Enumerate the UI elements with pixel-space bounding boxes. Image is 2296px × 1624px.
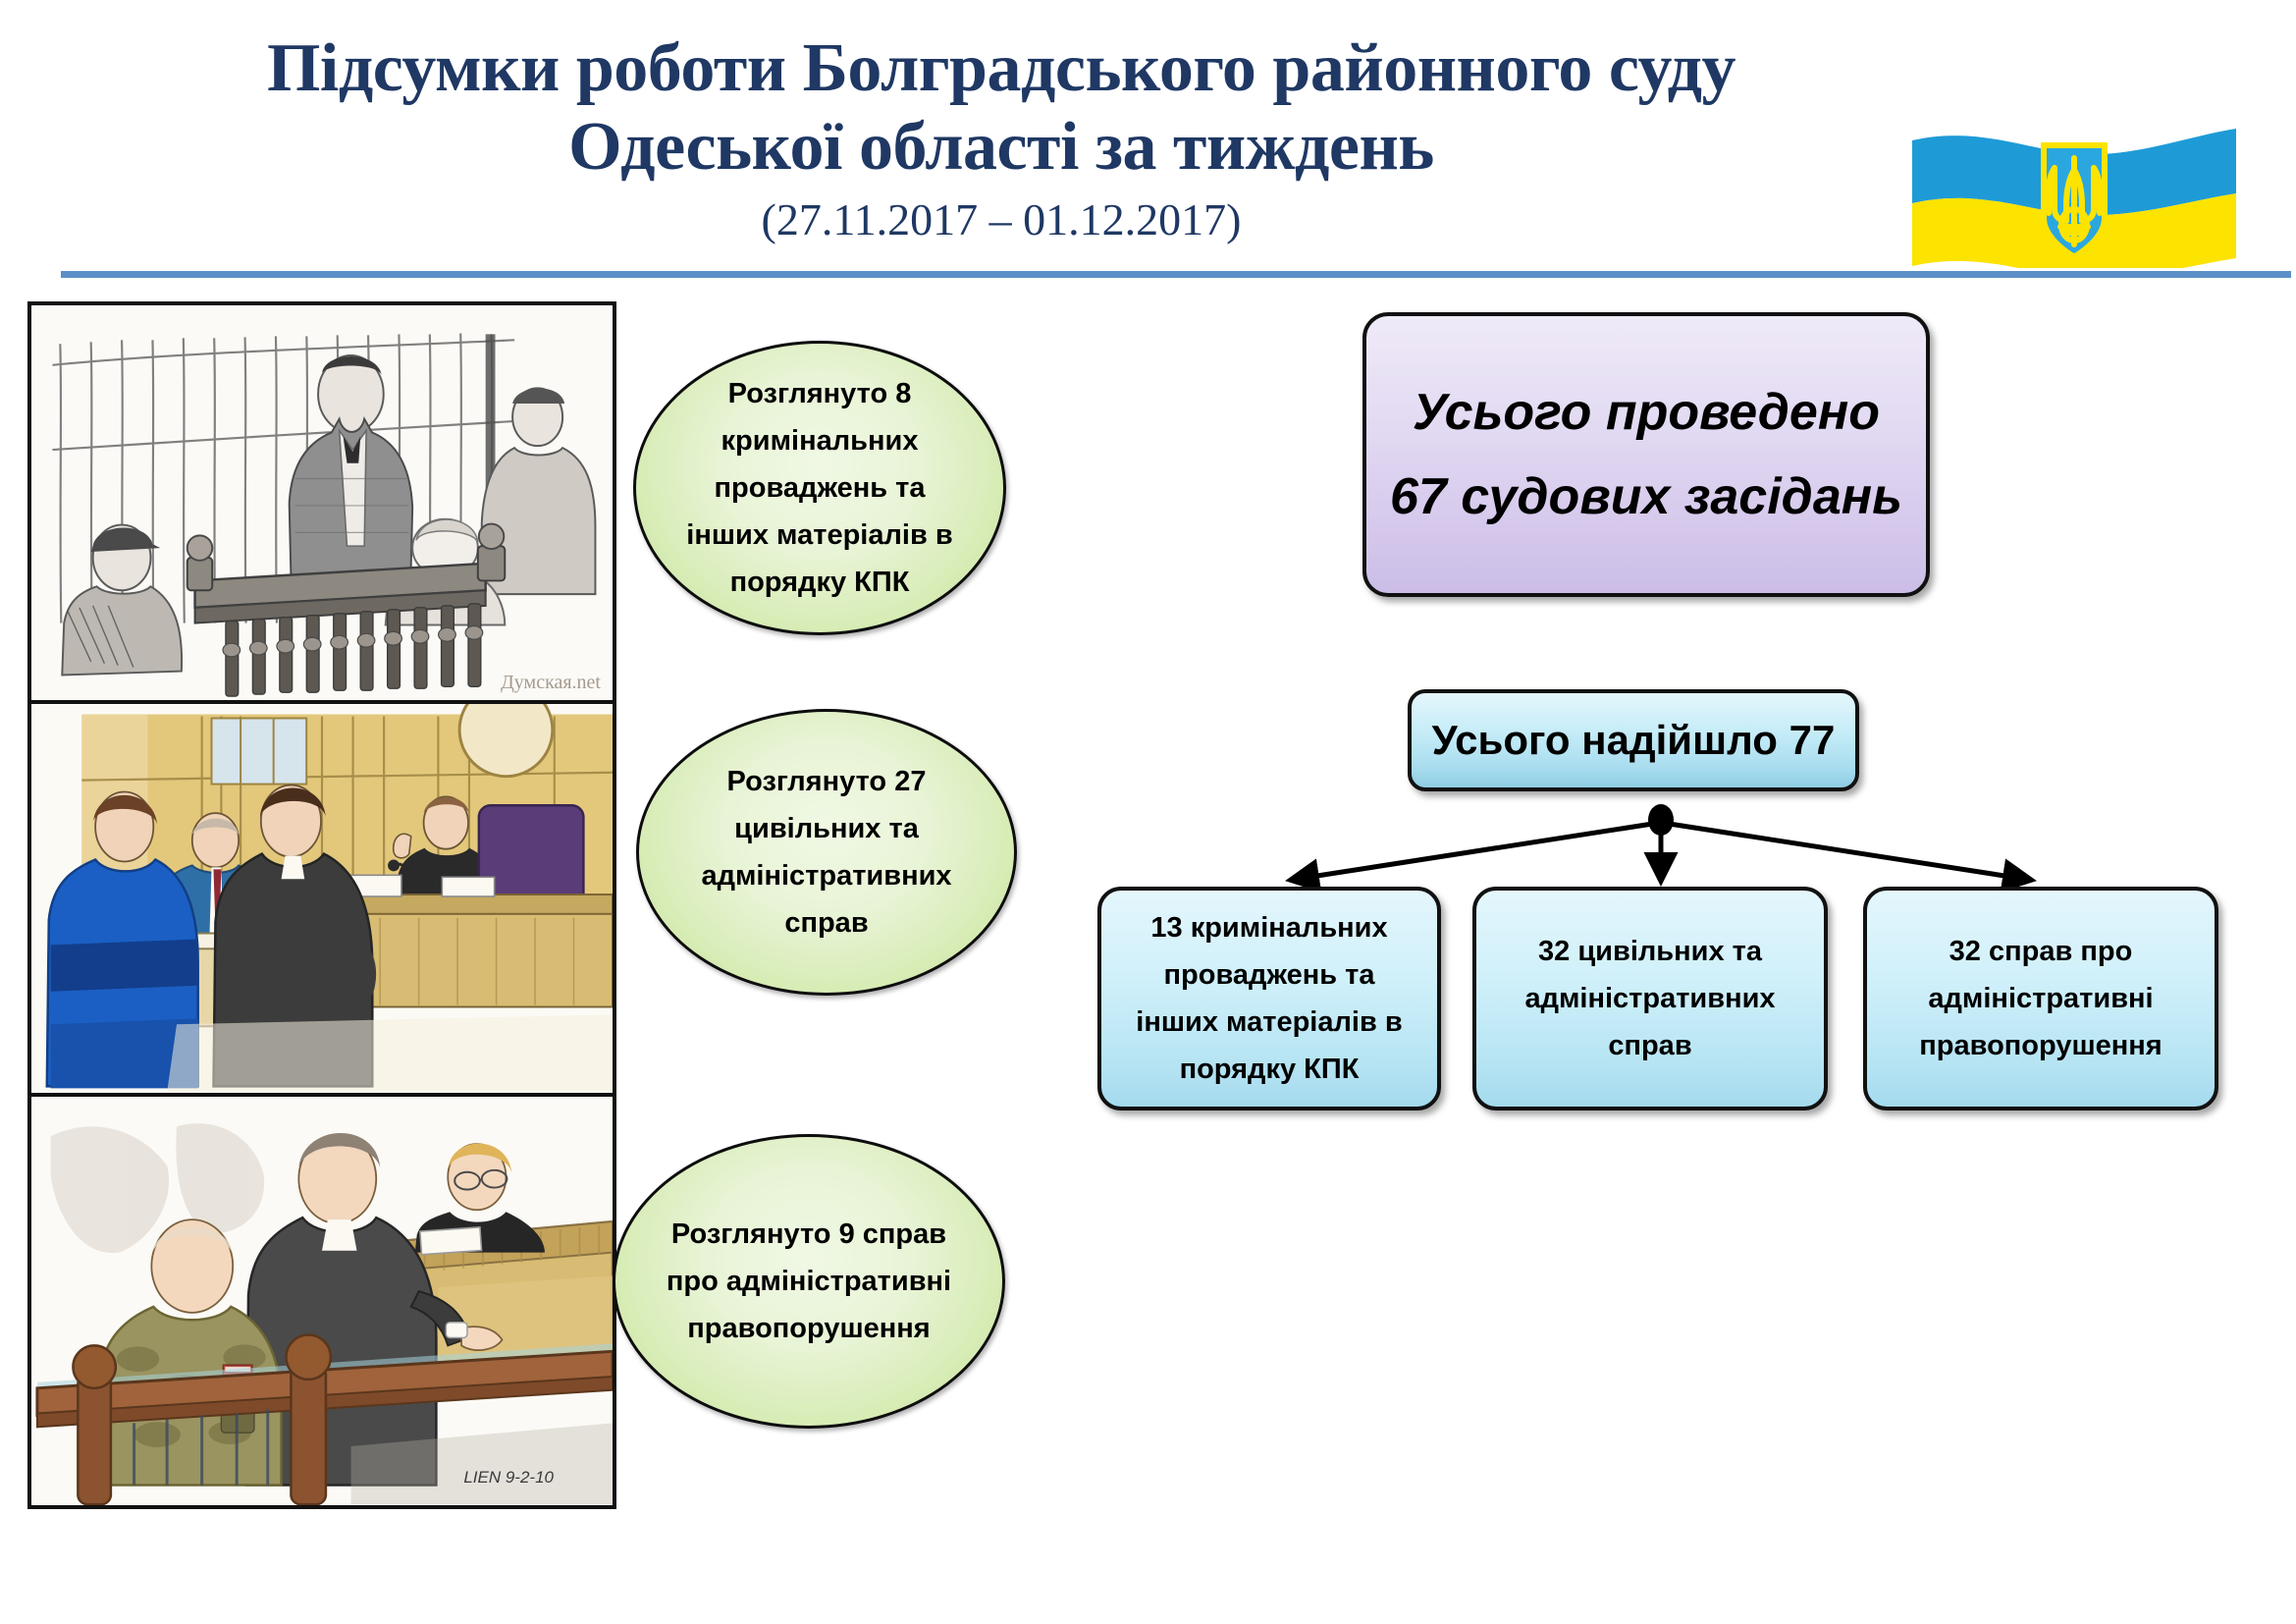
total-received-box: Усього надійшло 77 <box>1408 689 1859 791</box>
page-title: Підсумки роботи Болградського районного … <box>118 29 1885 247</box>
artist-signature: LIEN 9-2-10 <box>463 1468 554 1488</box>
courtroom-sketch-defendant-in-cage: Думская.net <box>27 301 616 704</box>
courtroom-sketch-military-officer-hearing: LIEN 9-2-10 <box>27 1097 616 1509</box>
title-line-1: Підсумки роботи Болградського районного … <box>118 29 1885 108</box>
received-criminal-box: 13 кримінальних проваджень та інших мате… <box>1097 887 1441 1110</box>
received-civil-administrative-text: 32 цивільних та адміністративних справ <box>1476 928 1824 1069</box>
stat-ellipse-administrative-offences: Розглянуто 9 справ про адміністративні п… <box>613 1134 1005 1429</box>
stat-ellipse-civil-administrative: Розглянуто 27 цивільних та адміністратив… <box>636 709 1017 996</box>
received-civil-administrative-box: 32 цивільних та адміністративних справ <box>1472 887 1828 1110</box>
title-line-2: Одеської області за тиждень <box>118 108 1885 187</box>
page-header: Підсумки роботи Болградського районного … <box>0 0 2296 273</box>
courtroom-image-column: Думская.net <box>27 301 616 1509</box>
total-hearings-text: Усього проведено 67 судових засідань <box>1366 370 1926 539</box>
courtroom-sketch-judge-and-attorneys <box>27 704 616 1097</box>
title-date-range: (27.11.2017 – 01.12.2017) <box>118 192 1885 247</box>
ukraine-flag-trident-emblem-icon <box>1912 123 2236 268</box>
total-hearings-box: Усього проведено 67 судових засідань <box>1362 312 1930 597</box>
header-divider <box>61 271 2291 278</box>
stat-ellipse-criminal-text: Розглянуто 8 кримінальних проваджень та … <box>636 370 1003 606</box>
received-criminal-text: 13 кримінальних проваджень та інших мате… <box>1101 904 1437 1093</box>
stat-ellipse-criminal: Розглянуто 8 кримінальних проваджень та … <box>633 341 1006 635</box>
received-administrative-offences-box: 32 справ про адміністративні правопоруше… <box>1863 887 2218 1110</box>
stat-ellipse-administrative-offences-text: Розглянуто 9 справ про адміністративні п… <box>615 1211 1002 1352</box>
received-administrative-offences-text: 32 справ про адміністративні правопоруше… <box>1867 928 2215 1069</box>
photo-watermark: Думская.net <box>501 672 601 694</box>
total-received-text: Усього надійшло 77 <box>1432 717 1836 764</box>
stat-ellipse-civil-administrative-text: Розглянуто 27 цивільних та адміністратив… <box>639 758 1014 947</box>
